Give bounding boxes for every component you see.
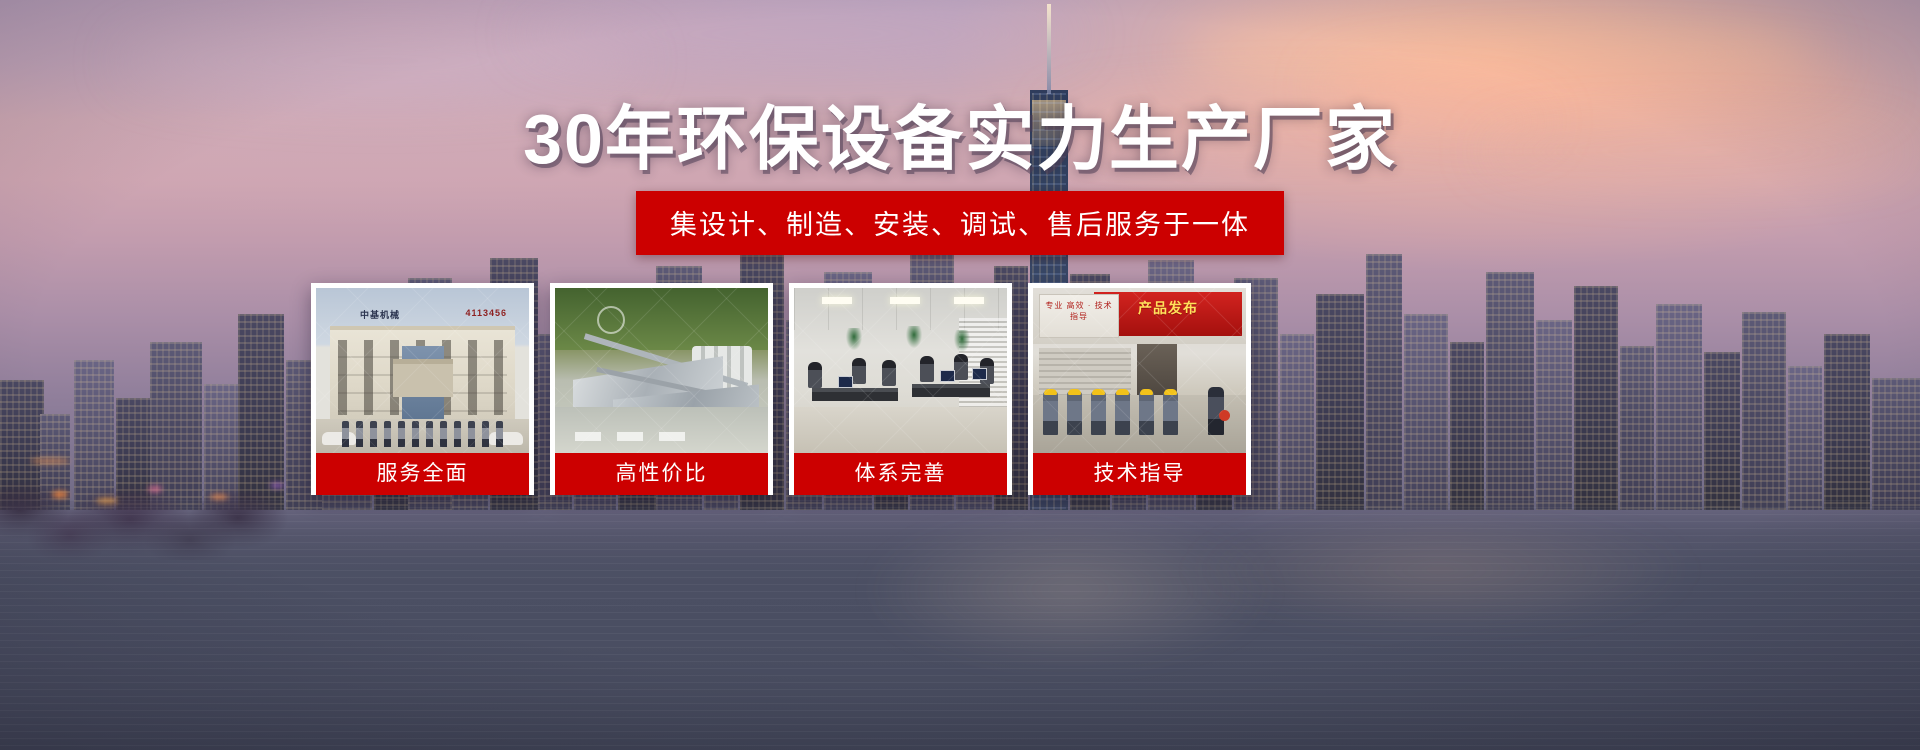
card-photo-workshop-workers-with-hard-hats: 产品发布 专业 高效 · 技术指导 (1033, 288, 1246, 453)
feature-card-label: 高性价比 (555, 453, 768, 495)
page-title: 30年环保设备实力生产厂家 (0, 104, 1920, 174)
feature-card-list: 中基机械 4113456 服务全面 (311, 283, 1251, 495)
card-photo-company-office-building-with-staff: 中基机械 4113456 (316, 288, 529, 453)
feature-card[interactable]: 体系完善 (789, 283, 1012, 495)
feature-card[interactable]: 产品发布 专业 高效 · 技术指导 技术指导 (1028, 283, 1251, 495)
photo-caption-phone: 4113456 (465, 308, 507, 318)
photo-caption-banner: 产品发布 (1102, 298, 1234, 318)
hero-banner: 30年环保设备实力生产厂家 集设计、制造、安装、调试、售后服务于一体 中基机械 … (0, 0, 1920, 750)
photo-logo-badge (597, 306, 625, 334)
photo-caption-sign: 中基机械 (360, 308, 400, 321)
subtitle-banner: 集设计、制造、安装、调试、售后服务于一体 (636, 191, 1284, 255)
water-reflection (1180, 510, 1700, 630)
feature-card[interactable]: 高性价比 (550, 283, 773, 495)
photo-caption-board: 专业 高效 · 技术指导 (1043, 300, 1115, 322)
feature-card[interactable]: 中基机械 4113456 服务全面 (311, 283, 534, 495)
feature-card-label: 服务全面 (316, 453, 529, 495)
feature-card-label: 技术指导 (1033, 453, 1246, 495)
feature-card-label: 体系完善 (794, 453, 1007, 495)
card-photo-office-interior-staff-working (794, 288, 1007, 453)
card-photo-aerial-view-factory-plant (555, 288, 768, 453)
